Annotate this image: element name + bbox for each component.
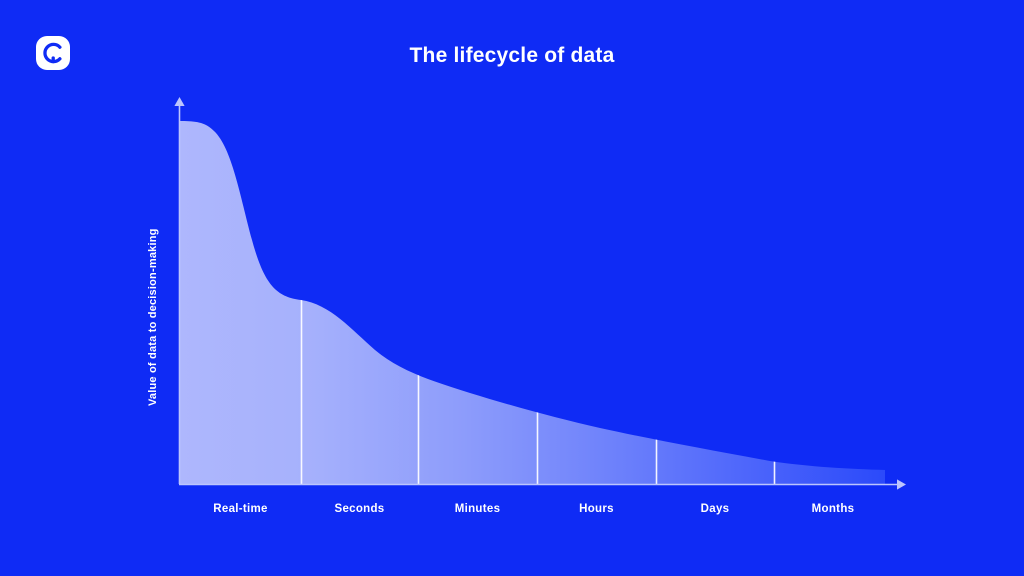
y-axis-label: Value of data to decision-making (147, 0, 163, 196)
x-tick-label-seconds: Seconds (301, 503, 418, 515)
slide-canvas: The lifecycle of data (0, 0, 1024, 576)
x-tick-label-hours: Hours (537, 503, 656, 515)
x-tick-label-real-time: Real-time (180, 503, 301, 515)
y-axis-arrow-icon (174, 97, 184, 106)
x-tick-label-minutes: Minutes (418, 503, 537, 515)
x-tick-label-days: Days (656, 503, 774, 515)
x-axis-arrow-icon (897, 479, 906, 489)
x-tick-label-months: Months (774, 503, 892, 515)
area-fill (179, 121, 885, 484)
y-axis-label-text: Value of data to decision-making (147, 196, 159, 406)
